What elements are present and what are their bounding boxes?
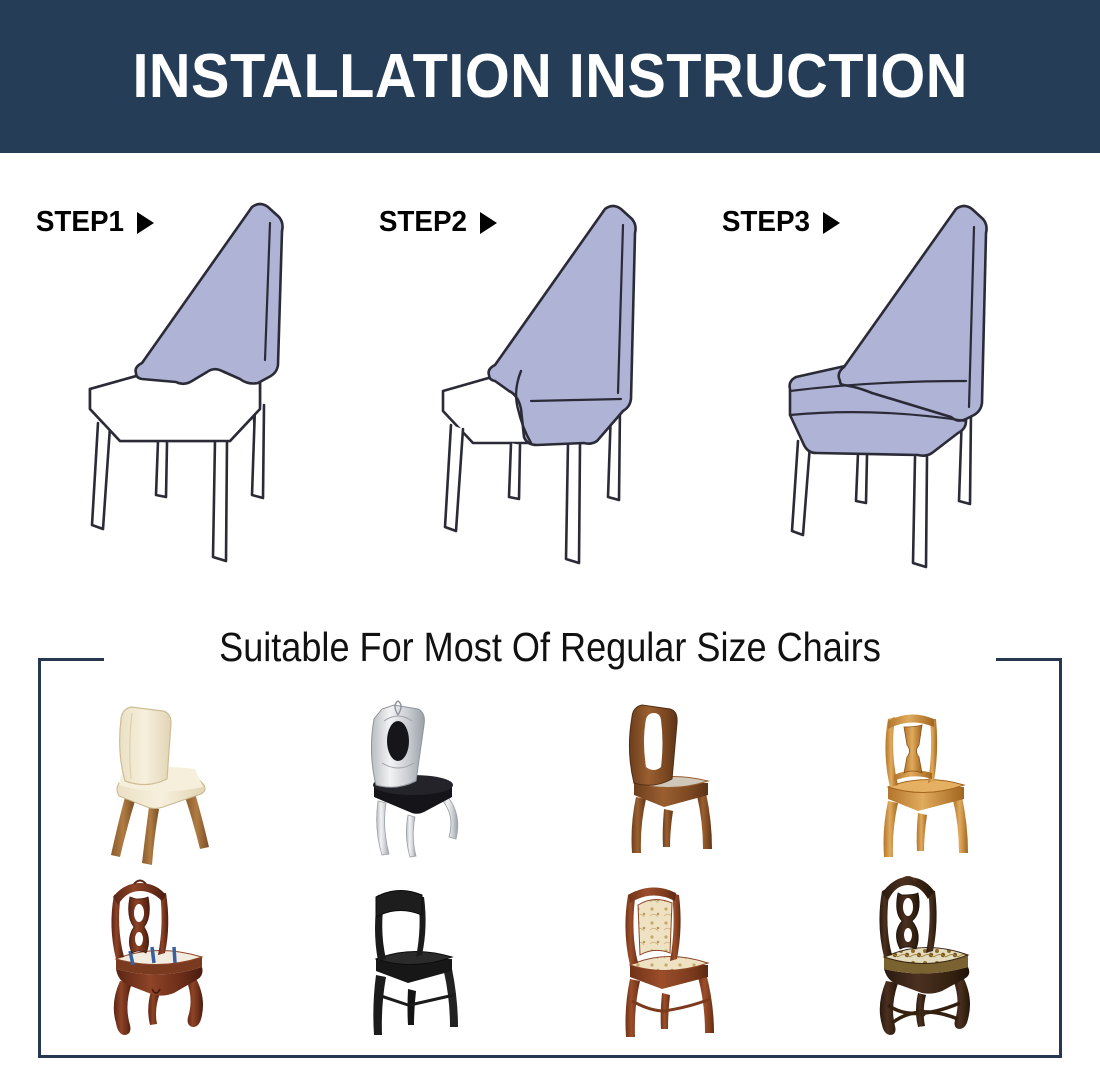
frame-border-bottom (38, 1055, 1062, 1058)
suitable-section-title: Suitable For Most Of Regular Size Chairs (99, 627, 1000, 668)
chair-examples-grid (38, 692, 1062, 1052)
chair-illustration-step-3 (770, 195, 1030, 585)
cream-upholstered-parsons-chair-icon (91, 697, 241, 867)
silver-baroque-chair-icon (352, 697, 492, 867)
frame-border-top-right (996, 658, 1062, 661)
chair-example-7 (550, 872, 806, 1052)
frame-border-top-left (38, 658, 104, 661)
chair-illustration-step-2 (421, 195, 681, 585)
step-panel-2: STEP2 (343, 153, 709, 633)
header-banner: INSTALLATION INSTRUCTION (0, 0, 1100, 153)
chippendale-mahogany-chair-icon (94, 877, 239, 1047)
chair-example-6 (294, 872, 550, 1052)
cherry-floral-upholstered-chair-icon (606, 877, 751, 1047)
chair-example-5 (38, 872, 294, 1052)
walnut-slot-back-chair-icon (608, 697, 748, 867)
step-panel-1: STEP1 (0, 153, 366, 633)
chair-illustration-step-1 (72, 195, 332, 585)
chair-example-3 (550, 692, 806, 872)
dark-carved-tapestry-chair-icon (862, 875, 1007, 1050)
chair-example-2 (294, 692, 550, 872)
chair-example-1 (38, 692, 294, 872)
installation-steps-row: STEP1 (0, 153, 1100, 633)
chair-example-8 (806, 872, 1062, 1052)
honey-oak-splat-chair-icon (864, 697, 1004, 867)
page-title: INSTALLATION INSTRUCTION (132, 46, 967, 108)
chair-example-4 (806, 692, 1062, 872)
step-panel-3: STEP3 (686, 153, 1052, 633)
suitable-chairs-section: Suitable For Most Of Regular Size Chairs (38, 658, 1062, 1058)
black-wood-dining-chair-icon (352, 877, 492, 1047)
